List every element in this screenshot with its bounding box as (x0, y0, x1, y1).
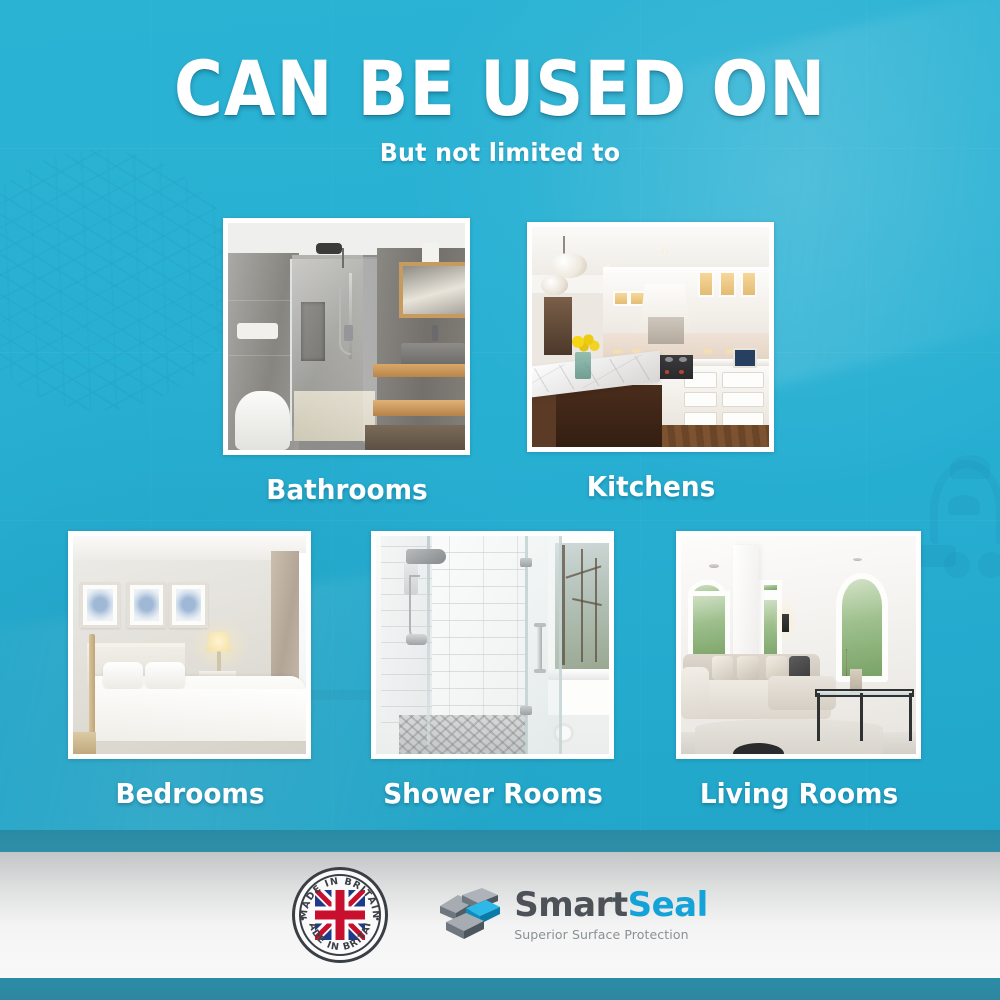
card-label-kitchens: Kitchens (586, 470, 715, 503)
svg-text:MADE IN BRITAIN: MADE IN BRITAIN (299, 876, 381, 920)
badge-text-top: MADE IN BRITAIN (299, 876, 381, 920)
card-bathrooms[interactable]: Bathrooms (223, 218, 470, 455)
smartseal-tagline: Superior Surface Protection (514, 927, 688, 942)
photo-frame-living-rooms (676, 531, 921, 759)
smartseal-wordmark: SmartSeal (514, 888, 708, 922)
page-subtitle: But not limited to (25, 138, 975, 167)
card-label-living-rooms: Living Rooms (699, 777, 897, 810)
photo-frame-kitchens (527, 222, 774, 452)
smartseal-tiles-icon (436, 886, 502, 944)
card-kitchens[interactable]: Kitchens (527, 222, 774, 452)
footer: MADE IN BRITAIN MADE IN BRITAIN (0, 852, 1000, 978)
background-ghost-shape (978, 552, 1000, 578)
footer-band-top (0, 830, 1000, 852)
photo-bedrooms (73, 536, 306, 754)
wordmark-smart: Smart (514, 885, 627, 925)
page-title: CAN BE USED ON (60, 54, 940, 124)
card-label-bedrooms: Bedrooms (115, 777, 264, 810)
photo-kitchens (532, 227, 769, 447)
background-ghost-shape (950, 455, 990, 479)
card-label-bathrooms: Bathrooms (266, 473, 427, 506)
card-shower-rooms[interactable]: Shower Rooms (371, 531, 614, 759)
header: CAN BE USED ON But not limited to (0, 54, 1000, 167)
background-ghost-shape (948, 495, 980, 515)
made-in-britain-badge: MADE IN BRITAIN MADE IN BRITAIN (292, 867, 388, 963)
footer-band-bottom (0, 978, 1000, 1000)
photo-frame-bedrooms (68, 531, 311, 759)
card-living-rooms[interactable]: Living Rooms (676, 531, 921, 759)
wordmark-seal: Seal (628, 885, 708, 925)
photo-bathrooms (228, 223, 465, 450)
card-bedrooms[interactable]: Bedrooms (68, 531, 311, 759)
photo-frame-bathrooms (223, 218, 470, 455)
smartseal-logo: SmartSeal Superior Surface Protection (436, 886, 708, 944)
photo-shower-rooms (376, 536, 609, 754)
photo-frame-shower-rooms (371, 531, 614, 759)
photo-living-rooms (681, 536, 916, 754)
card-label-shower-rooms: Shower Rooms (383, 777, 603, 810)
badge-curved-text: MADE IN BRITAIN MADE IN BRITAIN (292, 867, 388, 963)
